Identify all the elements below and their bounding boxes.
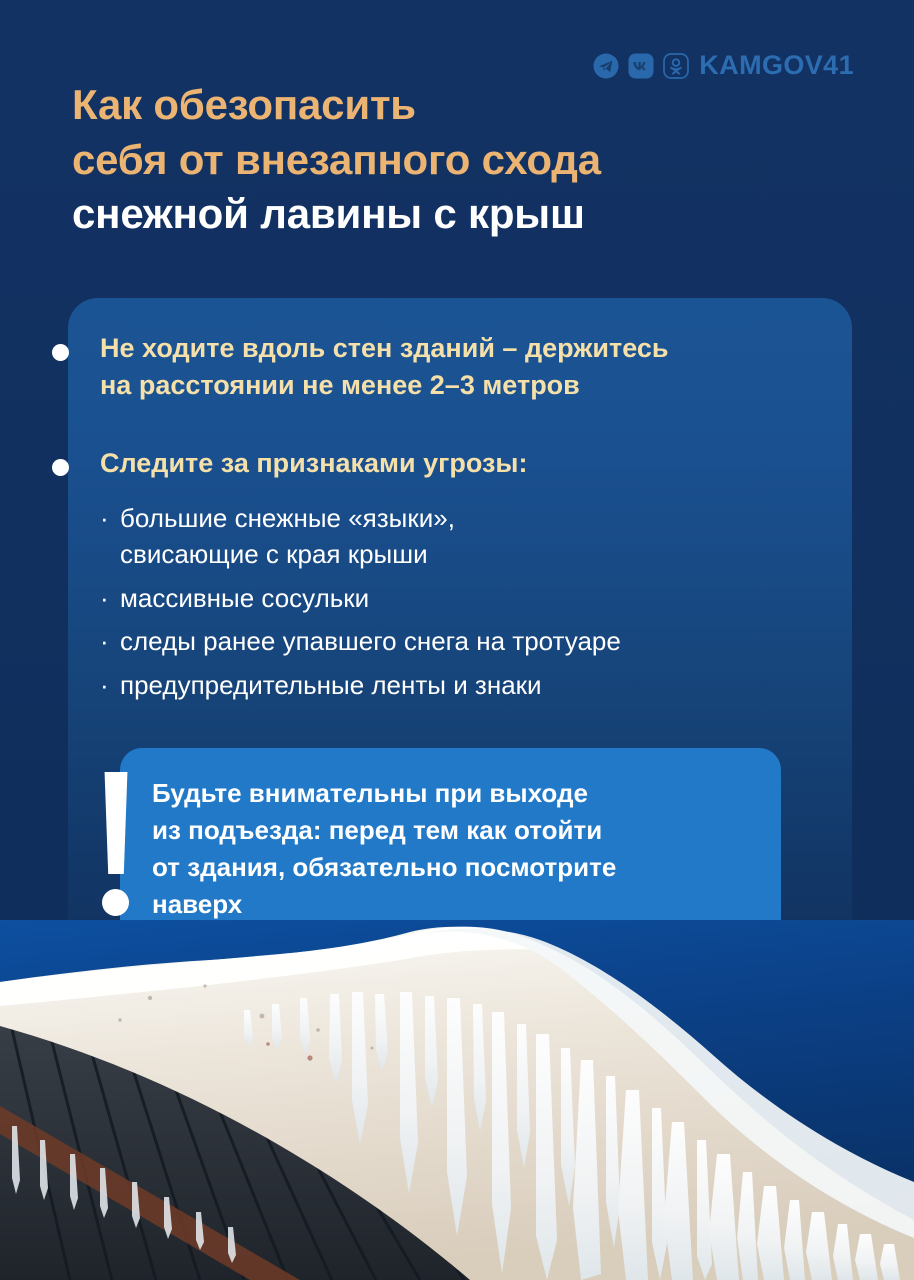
list-item: · большие снежные «языки», свисающие с к…: [100, 500, 860, 573]
sub-item-label: предупредительные ленты и знаки: [120, 670, 542, 700]
list-item: · следы ранее упавшего снега на тротуаре: [100, 623, 860, 659]
warning-text: Будьте внимательны при выходе из подъезд…: [152, 775, 762, 923]
sub-bullet-icon: ·: [100, 623, 109, 659]
sub-item-label: следы ранее упавшего снега на тротуаре: [120, 626, 621, 656]
bullet-text: Следите за признаками угрозы:: [100, 448, 527, 478]
brand-bar: KAMGOV41: [592, 50, 854, 81]
bullet-dot-icon: [52, 344, 69, 361]
sub-bullet-icon: ·: [100, 500, 109, 536]
sub-bullet-icon: ·: [100, 667, 109, 703]
bullet-list: Не ходите вдоль стен зданий – держитесь …: [52, 330, 852, 522]
title-line-3: снежной лавины с крыш: [72, 187, 812, 242]
odnoklassniki-icon[interactable]: [662, 52, 690, 80]
exclamation-bar: [103, 772, 129, 874]
sub-list: · большие снежные «языки», свисающие с к…: [100, 500, 860, 710]
brand-name: KAMGOV41: [699, 50, 854, 81]
infographic-poster: KAMGOV41 Как обезопасить себя от внезапн…: [0, 0, 914, 1280]
exclamation-mark-icon: [101, 772, 131, 917]
sub-bullet-icon: ·: [100, 580, 109, 616]
page-title: Как обезопасить себя от внезапного схода…: [72, 78, 812, 242]
title-line-1: Как обезопасить: [72, 78, 812, 133]
sub-item-label: большие снежные «языки», свисающие с кра…: [120, 503, 455, 569]
bullet-dot-icon: [52, 459, 69, 476]
bullet-text: Не ходите вдоль стен зданий – держитесь …: [100, 333, 668, 400]
roof-icicles-photo: [0, 920, 914, 1280]
exclamation-dot: [102, 889, 129, 916]
list-item: Не ходите вдоль стен зданий – держитесь …: [52, 330, 852, 405]
list-item: Следите за признаками угрозы:: [52, 445, 852, 482]
list-item: · предупредительные ленты и знаки: [100, 667, 860, 703]
list-item: · массивные сосульки: [100, 580, 860, 616]
vk-icon[interactable]: [627, 52, 655, 80]
telegram-icon[interactable]: [592, 52, 620, 80]
title-line-2: себя от внезапного схода: [72, 133, 812, 188]
sub-item-label: массивные сосульки: [120, 583, 369, 613]
